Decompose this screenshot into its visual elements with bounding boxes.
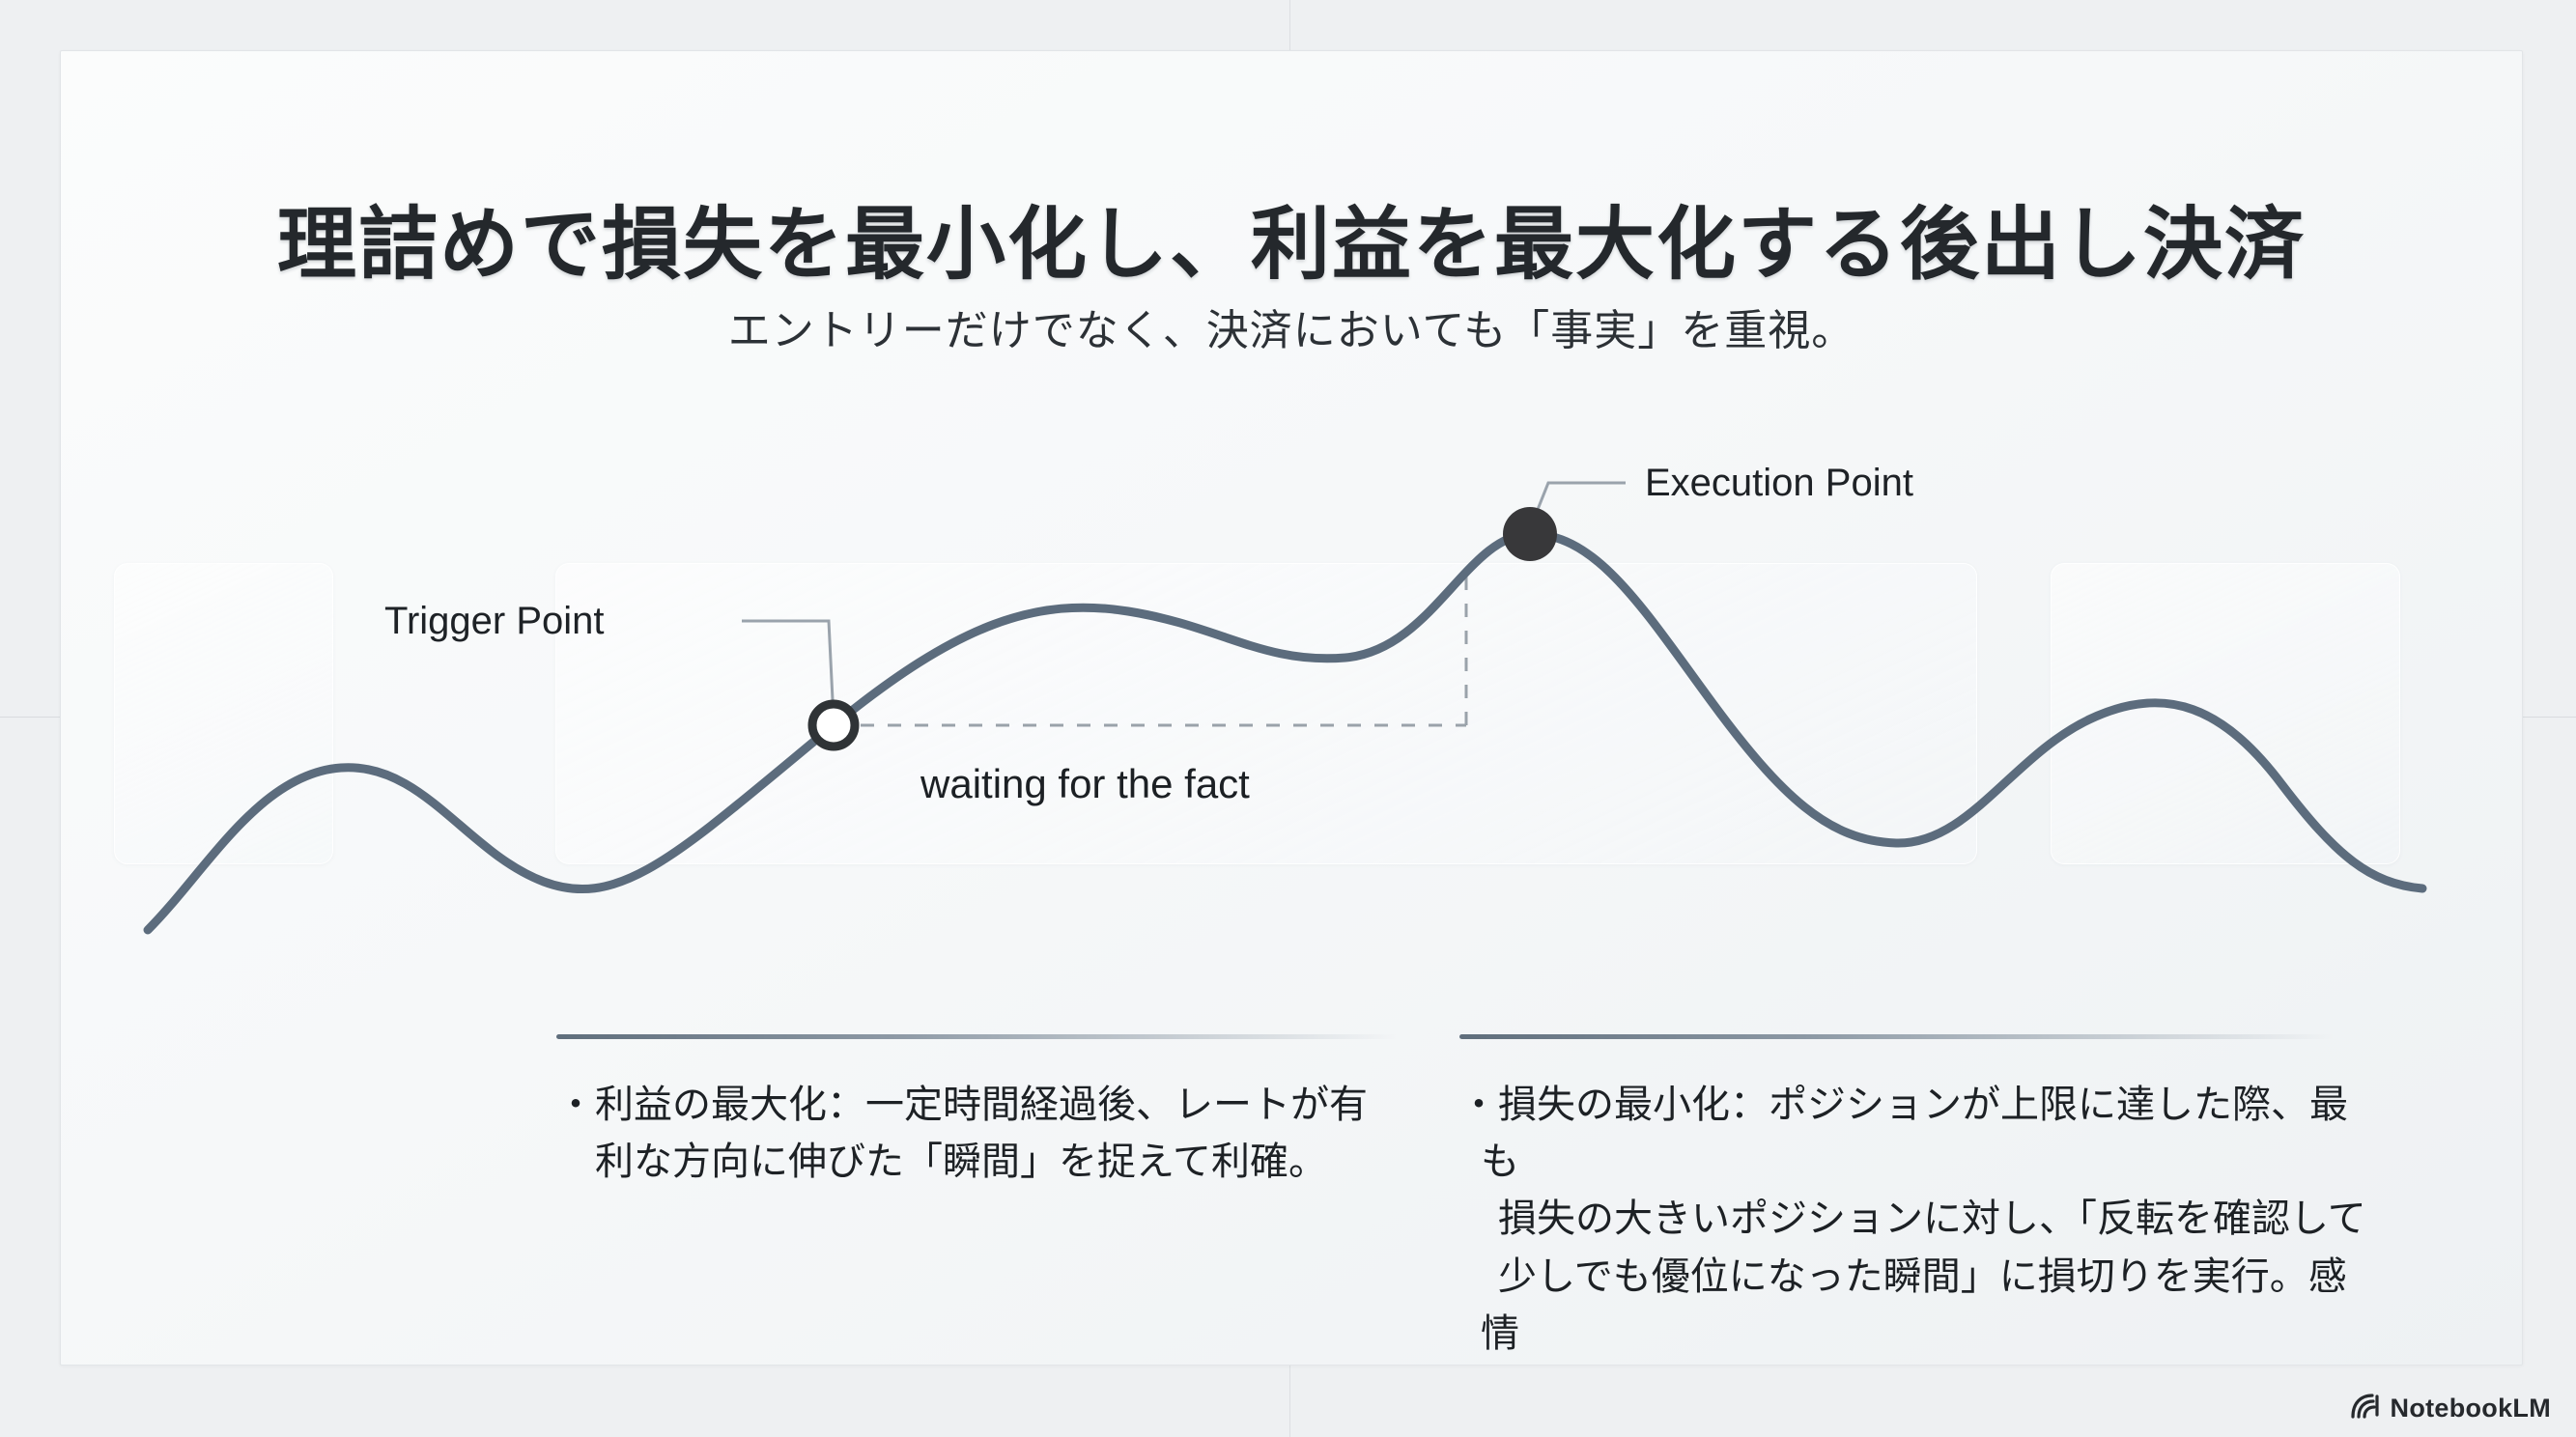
- page-title: 理詰めで損失を最小化し、利益を最大化する後出し決済: [61, 180, 2522, 295]
- bullet-section: ・利益の最大化：一定時間経過後、レートが有 利な方向に伸びた「瞬間」を捉えて利確…: [61, 1027, 2522, 1345]
- slide-card: 理詰めで損失を最小化し、利益を最大化する後出し決済 エントリーだけでなく、決済に…: [60, 50, 2523, 1366]
- bullet-line: ・利益の最大化：一定時間経過後、レートが有: [556, 1077, 1406, 1134]
- bullet-line: を排した自動追従。: [1459, 1363, 2367, 1366]
- bullet-line: 少しでも優位になった瞬間」に損切りを実行。感情: [1459, 1249, 2367, 1363]
- notebooklm-label: NotebookLM: [2391, 1394, 2551, 1423]
- bullet-divider-left: [556, 1034, 1397, 1039]
- bullet-column-profit: ・利益の最大化：一定時間経過後、レートが有 利な方向に伸びた「瞬間」を捉えて利確…: [556, 1077, 1406, 1191]
- execution-point-marker: [1503, 507, 1557, 561]
- bullet-line: ・損失の最小化：ポジションが上限に達した際、最も: [1459, 1077, 2367, 1191]
- execution-point-label: Execution Point: [1645, 462, 1913, 505]
- price-curve-svg: [61, 466, 2522, 1065]
- waiting-for-the-fact-label: waiting for the fact: [920, 761, 1250, 807]
- trigger-point-label: Trigger Point: [384, 600, 605, 643]
- notebooklm-spiral-icon: [2351, 1394, 2380, 1423]
- trigger-point-marker: [812, 704, 855, 747]
- bullet-column-loss: ・損失の最小化：ポジションが上限に達した際、最も 損失の大きいポジションに対し、…: [1459, 1077, 2367, 1366]
- page-subtitle: エントリーだけでなく、決済においても「事実」を重視。: [61, 296, 2522, 357]
- bullet-line: 利な方向に伸びた「瞬間」を捉えて利確。: [556, 1134, 1406, 1191]
- price-curve-path: [148, 534, 2422, 930]
- notebooklm-branding: NotebookLM: [2351, 1394, 2551, 1423]
- bullet-divider-right: [1459, 1034, 2334, 1039]
- chart-area: Trigger Point Execution Point waiting fo…: [61, 466, 2522, 1065]
- bullet-line: 損失の大きいポジションに対し、「反転を確認して: [1459, 1191, 2367, 1248]
